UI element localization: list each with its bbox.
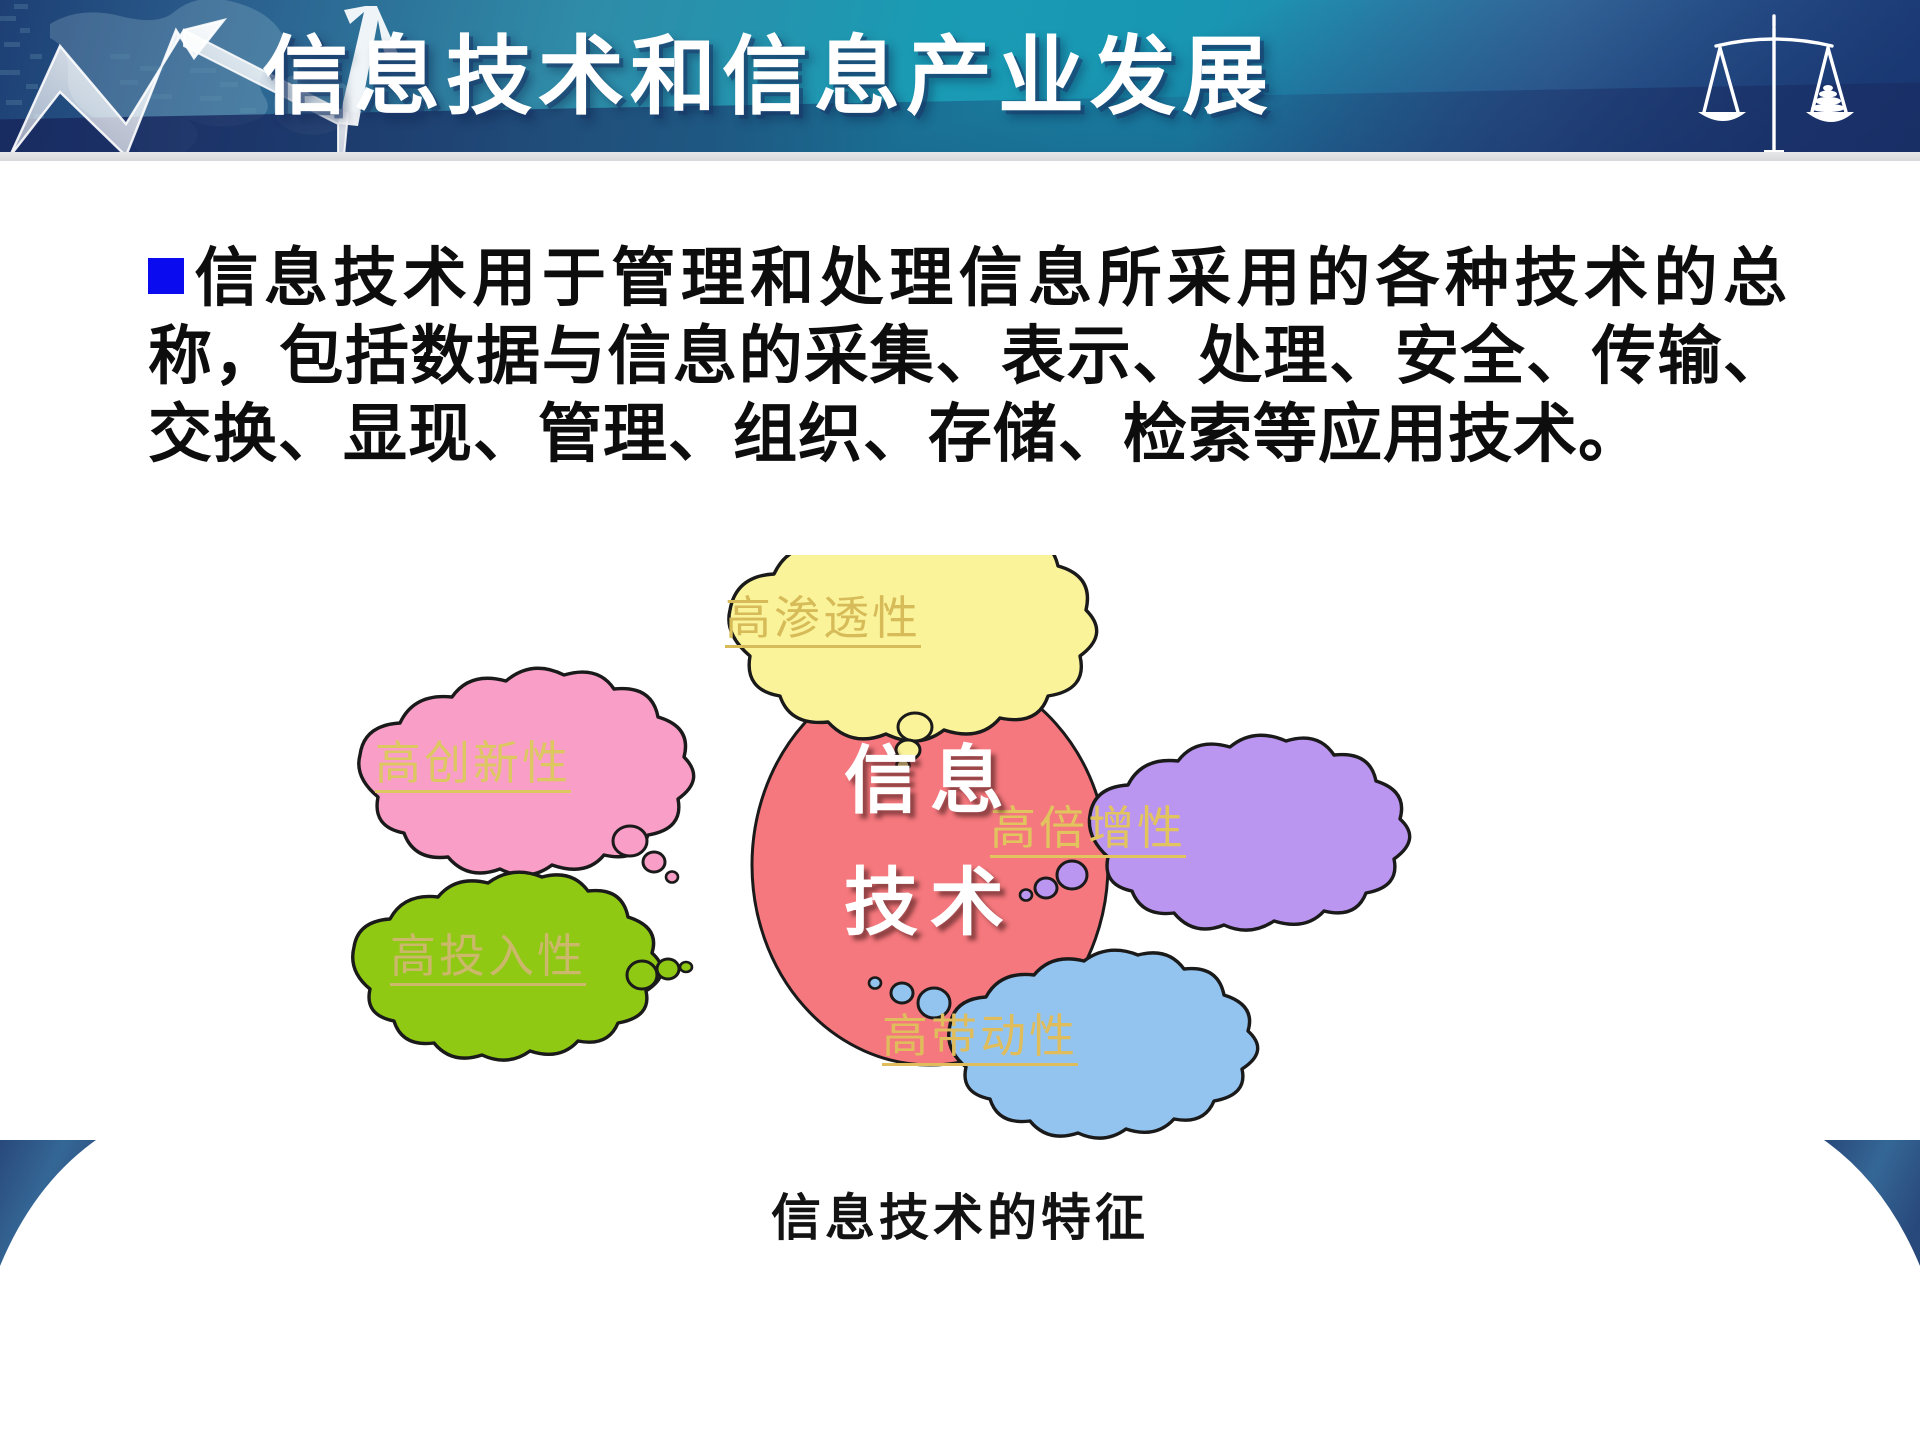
banner-divider xyxy=(0,152,1920,161)
cloud-label-left-lower: 高投入性 xyxy=(390,933,586,986)
cloud-label-top: 高渗透性 xyxy=(725,595,921,648)
slide-header-banner: 信息技术和信息产业发展 xyxy=(0,0,1920,152)
slide: 信息技术和信息产业发展 信息技术用于 xyxy=(0,0,1920,1440)
cloud-label-right-lower: 高带动性 xyxy=(882,1013,1078,1066)
concept-diagram: 高渗透性 高创新性 高倍增性 高投入性 高带动性 信息 技术 xyxy=(330,555,1570,1155)
cloud-label-left-upper: 高创新性 xyxy=(375,740,571,793)
center-node-label-line1: 信息 xyxy=(780,733,1080,829)
body-paragraph-block: 信息技术用于管理和处理信息所采用的各种技术的总称，包括数据与信息的采集、表示、处… xyxy=(148,240,1788,474)
balance-scales-icon xyxy=(1694,4,1854,152)
square-bullet-icon xyxy=(148,258,184,294)
footer-decoration xyxy=(0,1140,1920,1440)
center-node-label-line2: 技术 xyxy=(780,855,1080,951)
body-paragraph-text: 信息技术用于管理和处理信息所采用的各种技术的总称，包括数据与信息的采集、表示、处… xyxy=(148,241,1788,472)
page-title: 信息技术和信息产业发展 xyxy=(262,18,1382,136)
